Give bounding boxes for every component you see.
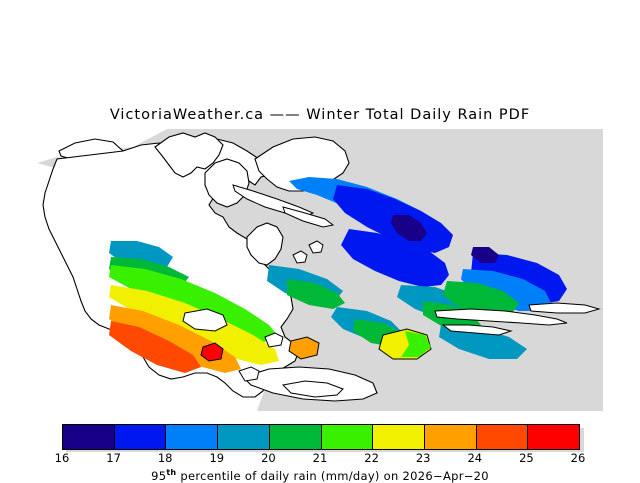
colorbar-segment-24-25[interactable] — [477, 425, 529, 449]
colorbar-segment-22-23[interactable] — [373, 425, 425, 449]
colorbar-legend: 1617181920212223242526 95th percentile o… — [0, 424, 640, 480]
land-sliver-island-north-2 — [283, 207, 333, 227]
colorbar-tick-23: 23 — [416, 451, 431, 465]
colorbar-tick-16: 16 — [55, 451, 70, 465]
colorbar-tick-labels: 1617181920212223242526 — [0, 451, 640, 467]
colorbar-tick-25: 25 — [519, 451, 534, 465]
page-title: VictoriaWeather.ca —— Winter Total Daily… — [0, 107, 640, 123]
colorbar-tick-26: 26 — [571, 451, 586, 465]
caption-ordinal-suffix: th — [166, 468, 176, 477]
colorbar-segment-20-21[interactable] — [270, 425, 322, 449]
colorbar-tick-20: 20 — [261, 451, 276, 465]
colorbar-segment-17-18[interactable] — [115, 425, 167, 449]
colorbar-tick-24: 24 — [467, 451, 482, 465]
colorbar-caption: 95th percentile of daily rain (mm/day) o… — [0, 468, 640, 483]
colorbar-segment-19-20[interactable] — [218, 425, 270, 449]
colorbar-tick-21: 21 — [313, 451, 328, 465]
land-islet-central-a — [293, 251, 307, 263]
map-graphic — [37, 129, 603, 411]
land-islet-central-b — [309, 241, 323, 253]
caption-rest: percentile of daily rain (mm/day) on 202… — [176, 469, 488, 483]
land-overlay-far-east — [529, 303, 599, 313]
colorbar-segment-21-22[interactable] — [322, 425, 374, 449]
colorbar-segment-23-24[interactable] — [425, 425, 477, 449]
weather-map-page: VictoriaWeather.ca —— Winter Total Daily… — [0, 0, 640, 480]
colorbar-segment-16-17[interactable] — [63, 425, 115, 449]
colorbar-tick-19: 19 — [209, 451, 224, 465]
colorbar-tick-18: 18 — [158, 451, 173, 465]
map-canvas[interactable] — [37, 129, 603, 411]
colorbar-tick-22: 22 — [364, 451, 379, 465]
colorbar-segment-25-26[interactable] — [528, 425, 579, 449]
caption-percentile-number: 95 — [151, 469, 166, 483]
colorbar-tick-17: 17 — [106, 451, 121, 465]
colorbar-segment-18-19[interactable] — [166, 425, 218, 449]
colorbar-swatches[interactable] — [62, 424, 580, 450]
contour-green-island-a — [287, 279, 345, 309]
